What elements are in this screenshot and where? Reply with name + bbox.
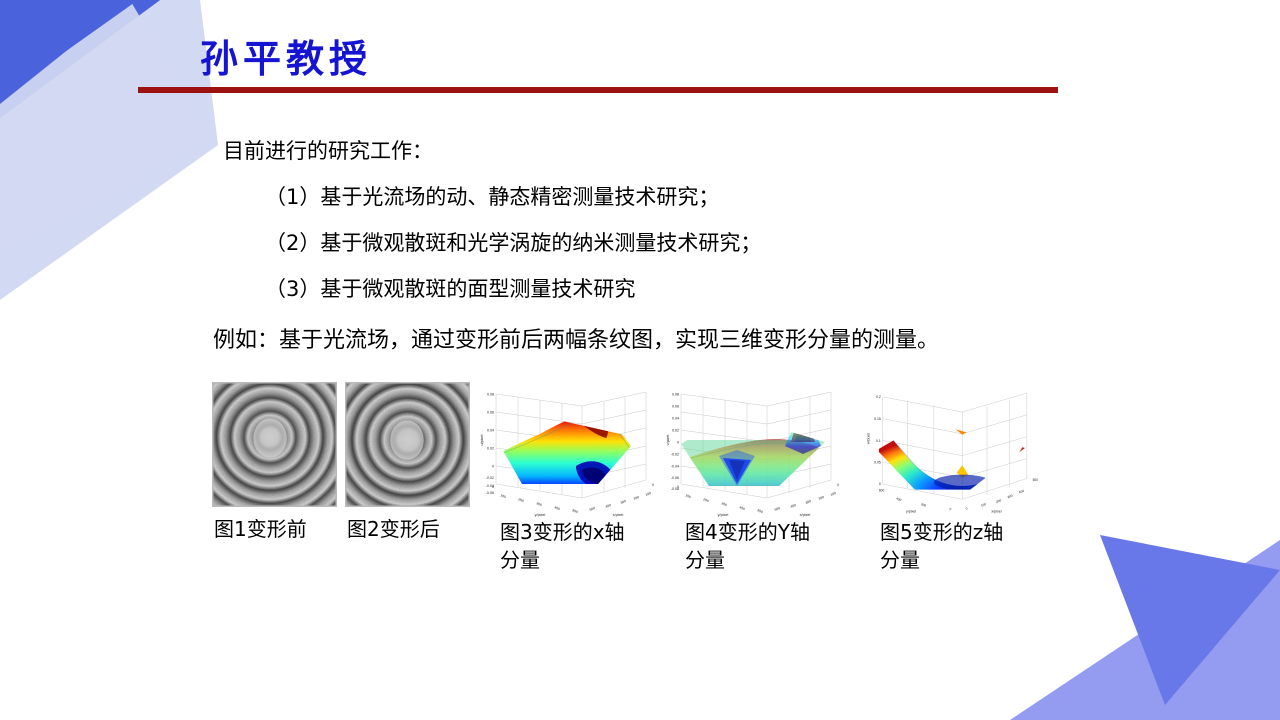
svg-text:0.15: 0.15 <box>874 417 881 421</box>
figure-3-caption: 图3变形的x轴 分量 <box>500 518 625 574</box>
surface-plot-x: 0.08 0.06 0.04 0.02 0 -0.02 -0.04 -0.06 … <box>478 380 663 518</box>
svg-text:0: 0 <box>492 485 494 489</box>
svg-text:-0.02: -0.02 <box>671 453 679 457</box>
svg-text:0: 0 <box>677 485 679 489</box>
plot4-ylabel: y/pixel <box>718 513 729 517</box>
svg-text:0.1: 0.1 <box>876 439 881 443</box>
figure-2: 图2变形后 <box>345 382 470 507</box>
slide-canvas: 孙平教授 目前进行的研究工作： （1）基于光流场的动、静态精密测量技术研究； （… <box>0 0 1280 720</box>
svg-text:0.08: 0.08 <box>487 393 494 397</box>
page-title: 孙平教授 <box>138 38 1068 82</box>
svg-text:0.06: 0.06 <box>487 411 494 415</box>
plot5-ylabel: y/pixel <box>906 510 916 514</box>
svg-text:600: 600 <box>879 489 885 493</box>
plot4-xlabel: x/pixel <box>800 513 811 517</box>
figure-1: 图1变形前 <box>212 382 337 507</box>
svg-text:0.02: 0.02 <box>672 429 679 433</box>
plot3-ylabel: y/pixel <box>535 513 546 517</box>
svg-text:-0.04: -0.04 <box>671 465 679 469</box>
figure-5-caption: 图5变形的z轴 分量 <box>880 518 1003 574</box>
svg-text:0.08: 0.08 <box>672 393 679 397</box>
body-content: 目前进行的研究工作： （1）基于光流场的动、静态精密测量技术研究； （2）基于微… <box>0 128 1280 364</box>
body-item-2: （2）基于微观散斑和光学涡旋的纳米测量技术研究； <box>0 220 1280 266</box>
speckle-image-after <box>345 382 470 507</box>
svg-text:0: 0 <box>492 465 494 469</box>
svg-text:0.06: 0.06 <box>672 405 679 409</box>
figure-2-caption: 图2变形后 <box>347 515 440 543</box>
figure-strip: 图1变形前 <box>0 380 1280 610</box>
deco-blue-triangle <box>0 0 160 118</box>
title-divider <box>138 87 1058 93</box>
svg-text:0: 0 <box>652 483 654 487</box>
figure-1-caption: 图1变形前 <box>214 515 307 543</box>
body-lead: 目前进行的研究工作： <box>0 128 1280 174</box>
svg-text:0.04: 0.04 <box>487 429 494 433</box>
plot3-zlabel: u/pixel <box>480 434 484 445</box>
svg-text:-0.06: -0.06 <box>671 476 679 480</box>
svg-text:0.2: 0.2 <box>876 395 881 399</box>
svg-text:0.02: 0.02 <box>487 447 494 451</box>
plot3-xlabel: x/pixel <box>613 513 624 517</box>
body-item-3: （3）基于微观散斑的面型测量技术研究 <box>0 266 1280 312</box>
speckle-image-before <box>212 382 337 507</box>
plot5-zlabel: w/pixel <box>866 433 870 444</box>
svg-text:0: 0 <box>879 482 881 486</box>
title-block: 孙平教授 <box>138 38 1068 93</box>
figure-5: 0.2 0.15 0.1 0.05 0 600 400 200 0 0 100 … <box>858 380 1043 523</box>
svg-text:-0.02: -0.02 <box>486 476 494 480</box>
plot5-xlabel: x/pixel <box>991 510 1001 514</box>
figure-4: 0.08 0.06 0.04 0.02 0 -0.02 -0.04 -0.06 … <box>663 380 848 523</box>
svg-text:0: 0 <box>677 441 679 445</box>
svg-text:-0.06: -0.06 <box>486 491 494 495</box>
svg-text:0.05: 0.05 <box>874 461 881 465</box>
body-item-1: （1）基于光流场的动、静态精密测量技术研究； <box>0 174 1280 220</box>
surface-plot-y: 0.08 0.06 0.04 0.02 0 -0.02 -0.04 -0.06 … <box>663 380 848 518</box>
body-example: 例如：基于光流场，通过变形前后两幅条纹图，实现三维变形分量的测量。 <box>0 318 1280 364</box>
plot4-zlabel: v/pixel <box>666 434 670 445</box>
svg-text:500: 500 <box>1033 478 1039 482</box>
deco-blue-main <box>0 0 138 98</box>
surface-plot-z: 0.2 0.15 0.1 0.05 0 600 400 200 0 0 100 … <box>858 380 1043 518</box>
svg-text:0.04: 0.04 <box>672 417 679 421</box>
figure-3: 0.08 0.06 0.04 0.02 0 -0.02 -0.04 -0.06 … <box>478 380 663 523</box>
svg-text:0: 0 <box>837 483 839 487</box>
figure-4-caption: 图4变形的Y轴 分量 <box>685 518 810 574</box>
deco-lavender-wedge <box>0 0 160 118</box>
